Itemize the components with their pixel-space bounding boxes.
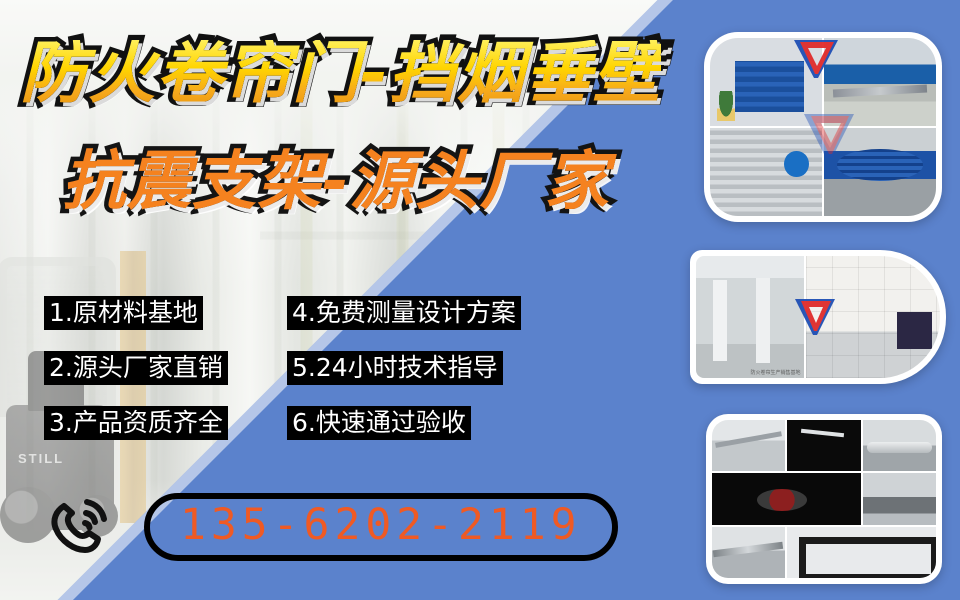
photo-steel-frame-bracket [787,527,936,578]
photo-black-bg-bracket-detail [787,420,860,471]
garage-ceiling-collage: 防火卷帘生产销售基地 [690,250,946,384]
photo-parking-garage-interior: 防火卷帘生产销售基地 [696,256,804,378]
ringing-phone-icon [44,492,120,562]
collage-caption: 防火卷帘生产销售基地 [751,369,801,376]
feature-row: 2.源头厂家直销 5.24小时技术指导 [44,351,564,385]
photo-ceiling-fan-mount [863,473,936,524]
fire-shutter-collage [704,32,942,222]
feature-item-3: 3.产品资质齐全 [44,406,228,440]
feature-item-6: 6.快速通过验收 [287,406,471,440]
feature-item-2: 2.源头厂家直销 [44,351,228,385]
feature-item-5: 5.24小时技术指导 [287,351,503,385]
feature-list: 1.原材料基地 4.免费测量设计方案 2.源头厂家直销 5.24小时技术指导 3… [44,296,564,461]
photo-pipe-hanger-bracket [712,420,785,471]
photo-red-fan-bracket [712,473,861,524]
photo-blue-fire-shutter-door [710,38,822,126]
contact-row: 135-6202-2119 [44,492,618,562]
photo-suspended-ceiling-installation [806,256,940,378]
photo-duct-rail-bracket [712,527,785,578]
headline-secondary: 抗震支架-源头厂家 [62,150,610,214]
feature-row: 3.产品资质齐全 6.快速通过验收 [44,406,564,440]
photo-roll-forming-machine [824,38,936,126]
seismic-bracket-collage [706,414,942,584]
advertisement-banner: STILL 防火卷帘门-挡烟垂壁 防火卷帘门-挡烟垂壁 抗震支架-源头厂家 抗震… [0,0,960,600]
photo-clamped-pipe-bracket [863,420,936,471]
phone-number: 135-6202-2119 [180,500,582,550]
photo-shutter-roll-assembly [824,128,936,216]
feature-item-4: 4.免费测量设计方案 [287,296,521,330]
headline-primary: 防火卷帘门-挡烟垂壁 [20,40,661,107]
phone-number-box[interactable]: 135-6202-2119 [144,493,618,561]
feature-row: 1.原材料基地 4.免费测量设计方案 [44,296,564,330]
feature-item-1: 1.原材料基地 [44,296,203,330]
photo-grey-fire-shutter-door [710,128,822,216]
